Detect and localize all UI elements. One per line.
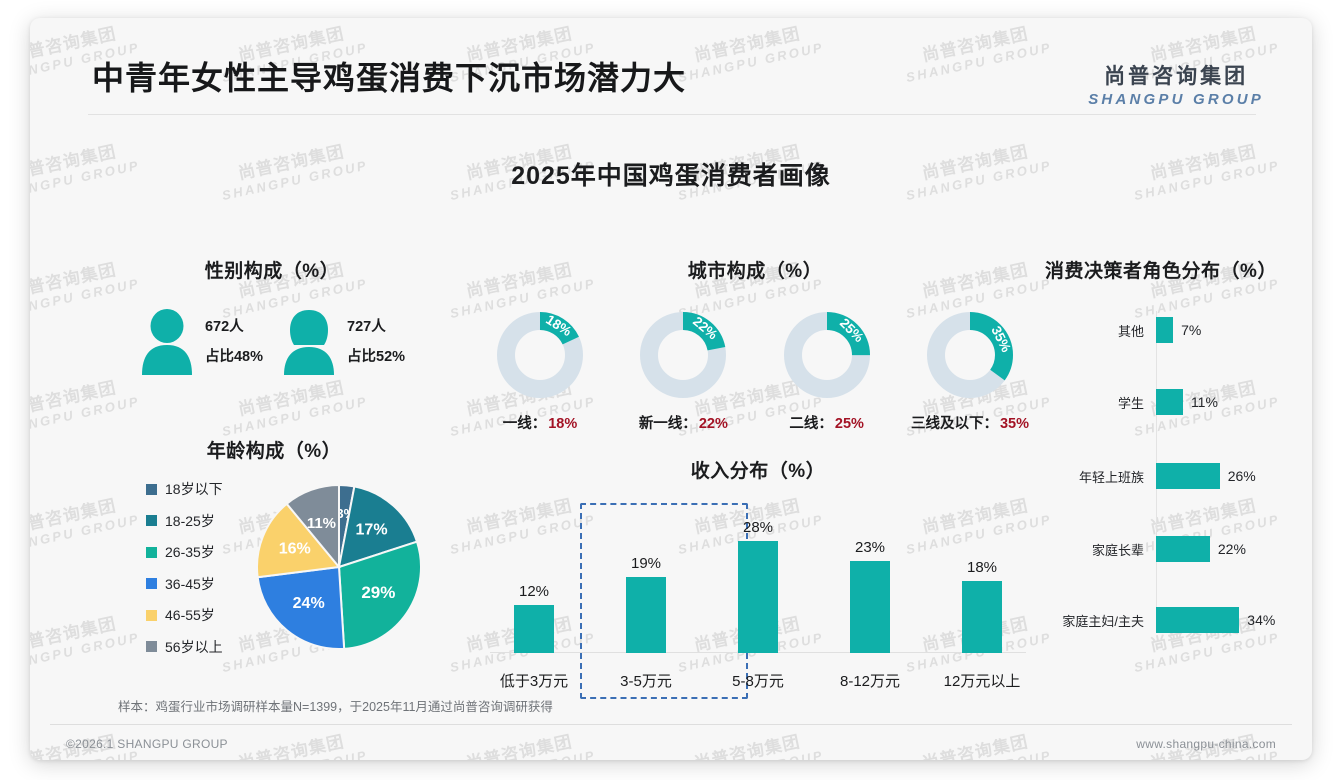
logo-chinese-text: 尚普咨询集团 [1088,60,1264,90]
income-bar-column: 23% [818,503,922,653]
income-bar-value: 23% [855,539,885,556]
income-section: 收入分布（%） 12%19%28%23%18% 低于3万元3-5万元5-8万元8… [478,456,1038,699]
income-category-label: 3-5万元 [594,670,698,691]
sample-note: 样本：鸡蛋行业市场调研样本量N=1399，于2025年11月通过尚普咨询调研获得 [118,696,553,715]
role-bar-row: 家庭主妇/主夫34% [1030,607,1292,633]
age-legend-label: 36-45岁 [165,574,215,594]
role-bar-row: 学生11% [1030,389,1292,415]
income-bar-column: 12% [482,503,586,653]
role-bar-rect [1156,536,1210,562]
role-bar-row: 家庭长辈22% [1030,536,1292,562]
gender-item-male: 672人 占比48% [139,309,263,375]
page-content: 中青年女性主导鸡蛋消费下沉市场潜力大 尚普咨询集团 SHANGPU GROUP … [30,18,1312,760]
role-bar-row: 其他7% [1030,317,1292,343]
income-bars: 12%19%28%23%18% [478,503,1038,653]
age-legend-item: 36-45岁 [146,574,223,594]
role-category-label: 家庭长辈 [1030,540,1150,559]
brand-logo: 尚普咨询集团 SHANGPU GROUP [1088,60,1264,108]
gender-female-text: 727人 占比52% [347,312,405,373]
city-donut-caption: 新一线：22% [621,412,745,433]
age-pie-value-label: 17% [356,521,388,538]
role-bar-rect [1156,389,1183,415]
role-category-label: 学生 [1030,393,1150,412]
infographic-page: 尚普咨询集团SHANGPU GROUP尚普咨询集团SHANGPU GROUP尚普… [30,18,1312,760]
age-chart-body: 18岁以下18-25岁26-35岁36-45岁46-55岁56岁以上 3%17%… [88,479,460,669]
gender-male-text: 672人 占比48% [205,312,263,373]
legend-swatch-icon [146,515,157,526]
logo-english-text: SHANGPU GROUP [1088,91,1264,108]
role-bar-value: 34% [1247,612,1275,628]
age-legend-label: 56岁以上 [165,637,223,657]
income-chart-body: 12%19%28%23%18% 低于3万元3-5万元5-8万元8-12万元12万… [478,499,1038,699]
city-donut-item: 35%三线及以下：35% [908,307,1032,433]
age-legend-label: 46-55岁 [165,605,215,625]
role-bar-rect [1156,607,1239,633]
age-legend-item: 18岁以下 [146,479,223,499]
city-donut-name: 二线： [789,416,833,432]
age-section: 年龄构成（%） 18岁以下18-25岁26-35岁36-45岁46-55岁56岁… [88,436,460,669]
city-donut-value: 25% [835,416,864,432]
role-category-label: 家庭主妇/主夫 [1030,611,1150,630]
city-section-title: 城市构成（%） [470,256,1040,283]
age-pie-value-label: 29% [361,583,395,602]
role-category-label: 年轻上班族 [1030,467,1150,486]
role-bar-rect [1156,463,1220,489]
role-bar-value: 26% [1228,468,1256,484]
page-header: 中青年女性主导鸡蛋消费下沉市场潜力大 尚普咨询集团 SHANGPU GROUP [30,18,1312,114]
gender-section-title: 性别构成（%） [92,256,452,283]
role-section-title: 消费决策者角色分布（%） [1030,256,1292,283]
legend-swatch-icon [146,484,157,495]
city-donut-caption: 二线：25% [765,412,889,433]
city-donut-value: 22% [699,416,728,432]
city-donut-svg: 25% [779,307,875,403]
page-subtitle: 2025年中国鸡蛋消费者画像 [30,156,1312,192]
gender-male-share: 占比48% [205,342,263,372]
city-donut-value: 18% [548,416,577,432]
income-bar-column: 19% [594,503,698,653]
city-donut-item: 25%二线：25% [765,307,889,433]
income-bar-rect [850,561,890,653]
role-bar-value: 7% [1181,322,1201,338]
male-icon [139,309,195,375]
female-icon [281,309,337,375]
page-title: 中青年女性主导鸡蛋消费下沉市场潜力大 [92,53,686,99]
age-pie-value-label: 24% [293,595,325,612]
income-bar-rect [738,541,778,653]
income-category-label: 8-12万元 [818,670,922,691]
age-legend-item: 46-55岁 [146,605,223,625]
income-bar-rect [626,577,666,653]
income-bar-rect [514,605,554,653]
age-pie-value-label: 16% [279,541,311,558]
city-donut-svg: 18% [492,307,588,403]
income-bar-rect [962,581,1002,653]
income-bar-column: 18% [930,503,1034,653]
gender-item-female: 727人 占比52% [281,309,405,375]
legend-swatch-icon [146,547,157,558]
income-bar-value: 28% [743,519,773,536]
city-donut-caption: 一线：18% [478,412,602,433]
age-section-title: 年龄构成（%） [88,436,460,463]
legend-swatch-icon [146,641,157,652]
gender-items: 672人 占比48% 727人 占比52% [92,309,452,375]
age-pie-svg: 3%17%29%24%16%11% [253,481,425,653]
header-divider [88,114,1256,115]
gender-female-count: 727人 [347,312,405,342]
income-category-label: 低于3万元 [482,670,586,691]
gender-section: 性别构成（%） 672人 占比48% [92,256,452,375]
age-legend-item: 56岁以上 [146,637,223,657]
role-bar-value: 22% [1218,541,1246,557]
legend-swatch-icon [146,578,157,589]
age-pie-chart: 3%17%29%24%16%11% [253,481,425,653]
city-donut-name: 新一线： [639,416,697,432]
city-donut-value: 35% [1000,416,1029,432]
footer-website: www.shangpu-china.com [1136,737,1276,751]
income-category-label: 12万元以上 [930,670,1034,691]
city-donut-caption: 三线及以下：35% [908,412,1032,433]
role-bar-row: 年轻上班族26% [1030,463,1292,489]
role-axis-line [1156,311,1157,611]
footer-copyright: ©2026.1 SHANGPU GROUP [66,737,228,751]
income-bar-value: 18% [967,559,997,576]
income-category-label: 5-8万元 [706,670,810,691]
city-section: 城市构成（%） 18%一线：18%22%新一线：22%25%二线：25%35%三… [470,256,1040,433]
gender-male-count: 672人 [205,312,263,342]
city-donut-name: 三线及以下： [911,416,998,432]
income-bar-column: 28% [706,503,810,653]
age-legend: 18岁以下18-25岁26-35岁36-45岁46-55岁56岁以上 [146,479,223,668]
income-bar-value: 12% [519,583,549,600]
income-section-title: 收入分布（%） [478,456,1038,483]
role-bar-rect [1156,317,1173,343]
age-legend-item: 18-25岁 [146,511,223,531]
role-category-label: 其他 [1030,321,1150,340]
gender-female-share: 占比52% [347,342,405,372]
age-legend-item: 26-35岁 [146,542,223,562]
city-donut-item: 18%一线：18% [478,307,602,433]
age-legend-label: 18-25岁 [165,511,215,531]
income-category-labels: 低于3万元3-5万元5-8万元8-12万元12万元以上 [478,670,1038,691]
city-donut-name: 一线： [503,416,547,432]
city-donut-item: 22%新一线：22% [621,307,745,433]
income-bar-value: 19% [631,555,661,572]
page-footer: ©2026.1 SHANGPU GROUP www.shangpu-china.… [30,724,1312,760]
city-donut-svg: 22% [635,307,731,403]
legend-swatch-icon [146,610,157,621]
age-legend-label: 18岁以下 [165,479,223,499]
role-section: 消费决策者角色分布（%） 其他7%学生11%年轻上班族26%家庭长辈22%家庭主… [1030,256,1292,611]
city-donut-svg: 35% [922,307,1018,403]
role-chart-body: 其他7%学生11%年轻上班族26%家庭长辈22%家庭主妇/主夫34% [1030,311,1292,611]
role-bar-value: 11% [1191,394,1218,410]
city-donut-row: 18%一线：18%22%新一线：22%25%二线：25%35%三线及以下：35% [470,307,1040,433]
age-pie-value-label: 11% [307,515,336,532]
age-legend-label: 26-35岁 [165,542,215,562]
